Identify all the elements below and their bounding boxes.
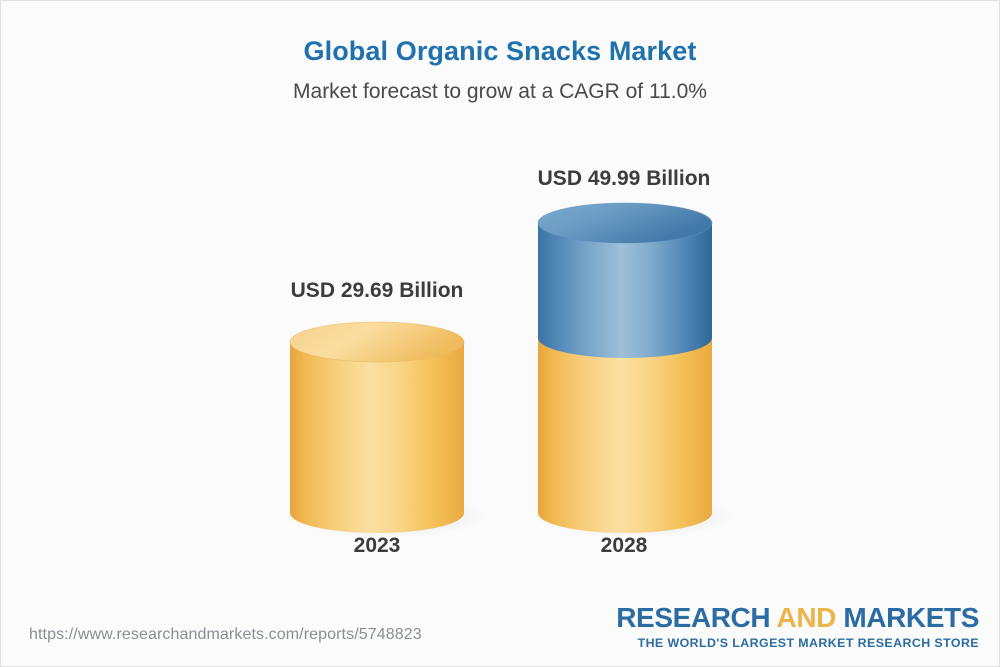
chart-plot-area: USD 29.69 Billion USD 49.99 Billion 2023… [1,1,1000,667]
logo-wordmark: RESEARCH AND MARKETS [616,604,979,632]
logo-and-text: AND [777,602,836,633]
source-url[interactable]: https://www.researchandmarkets.com/repor… [29,626,422,644]
logo-markets-text: MARKETS [836,602,979,633]
value-label-2028: USD 49.99 Billion [464,167,784,191]
bar-2023 [286,322,486,538]
bar-2028 [534,203,734,538]
research-and-markets-logo[interactable]: RESEARCH AND MARKETS THE WORLD'S LARGEST… [616,604,979,649]
logo-research-text: RESEARCH [616,602,776,633]
value-label-2023: USD 29.69 Billion [217,279,537,303]
cylinder-bars-svg [1,1,1000,667]
infographic-canvas: Global Organic Snacks Market Market fore… [0,0,1000,667]
category-label-2028: 2028 [464,534,784,558]
logo-tagline: THE WORLD'S LARGEST MARKET RESEARCH STOR… [616,637,979,649]
